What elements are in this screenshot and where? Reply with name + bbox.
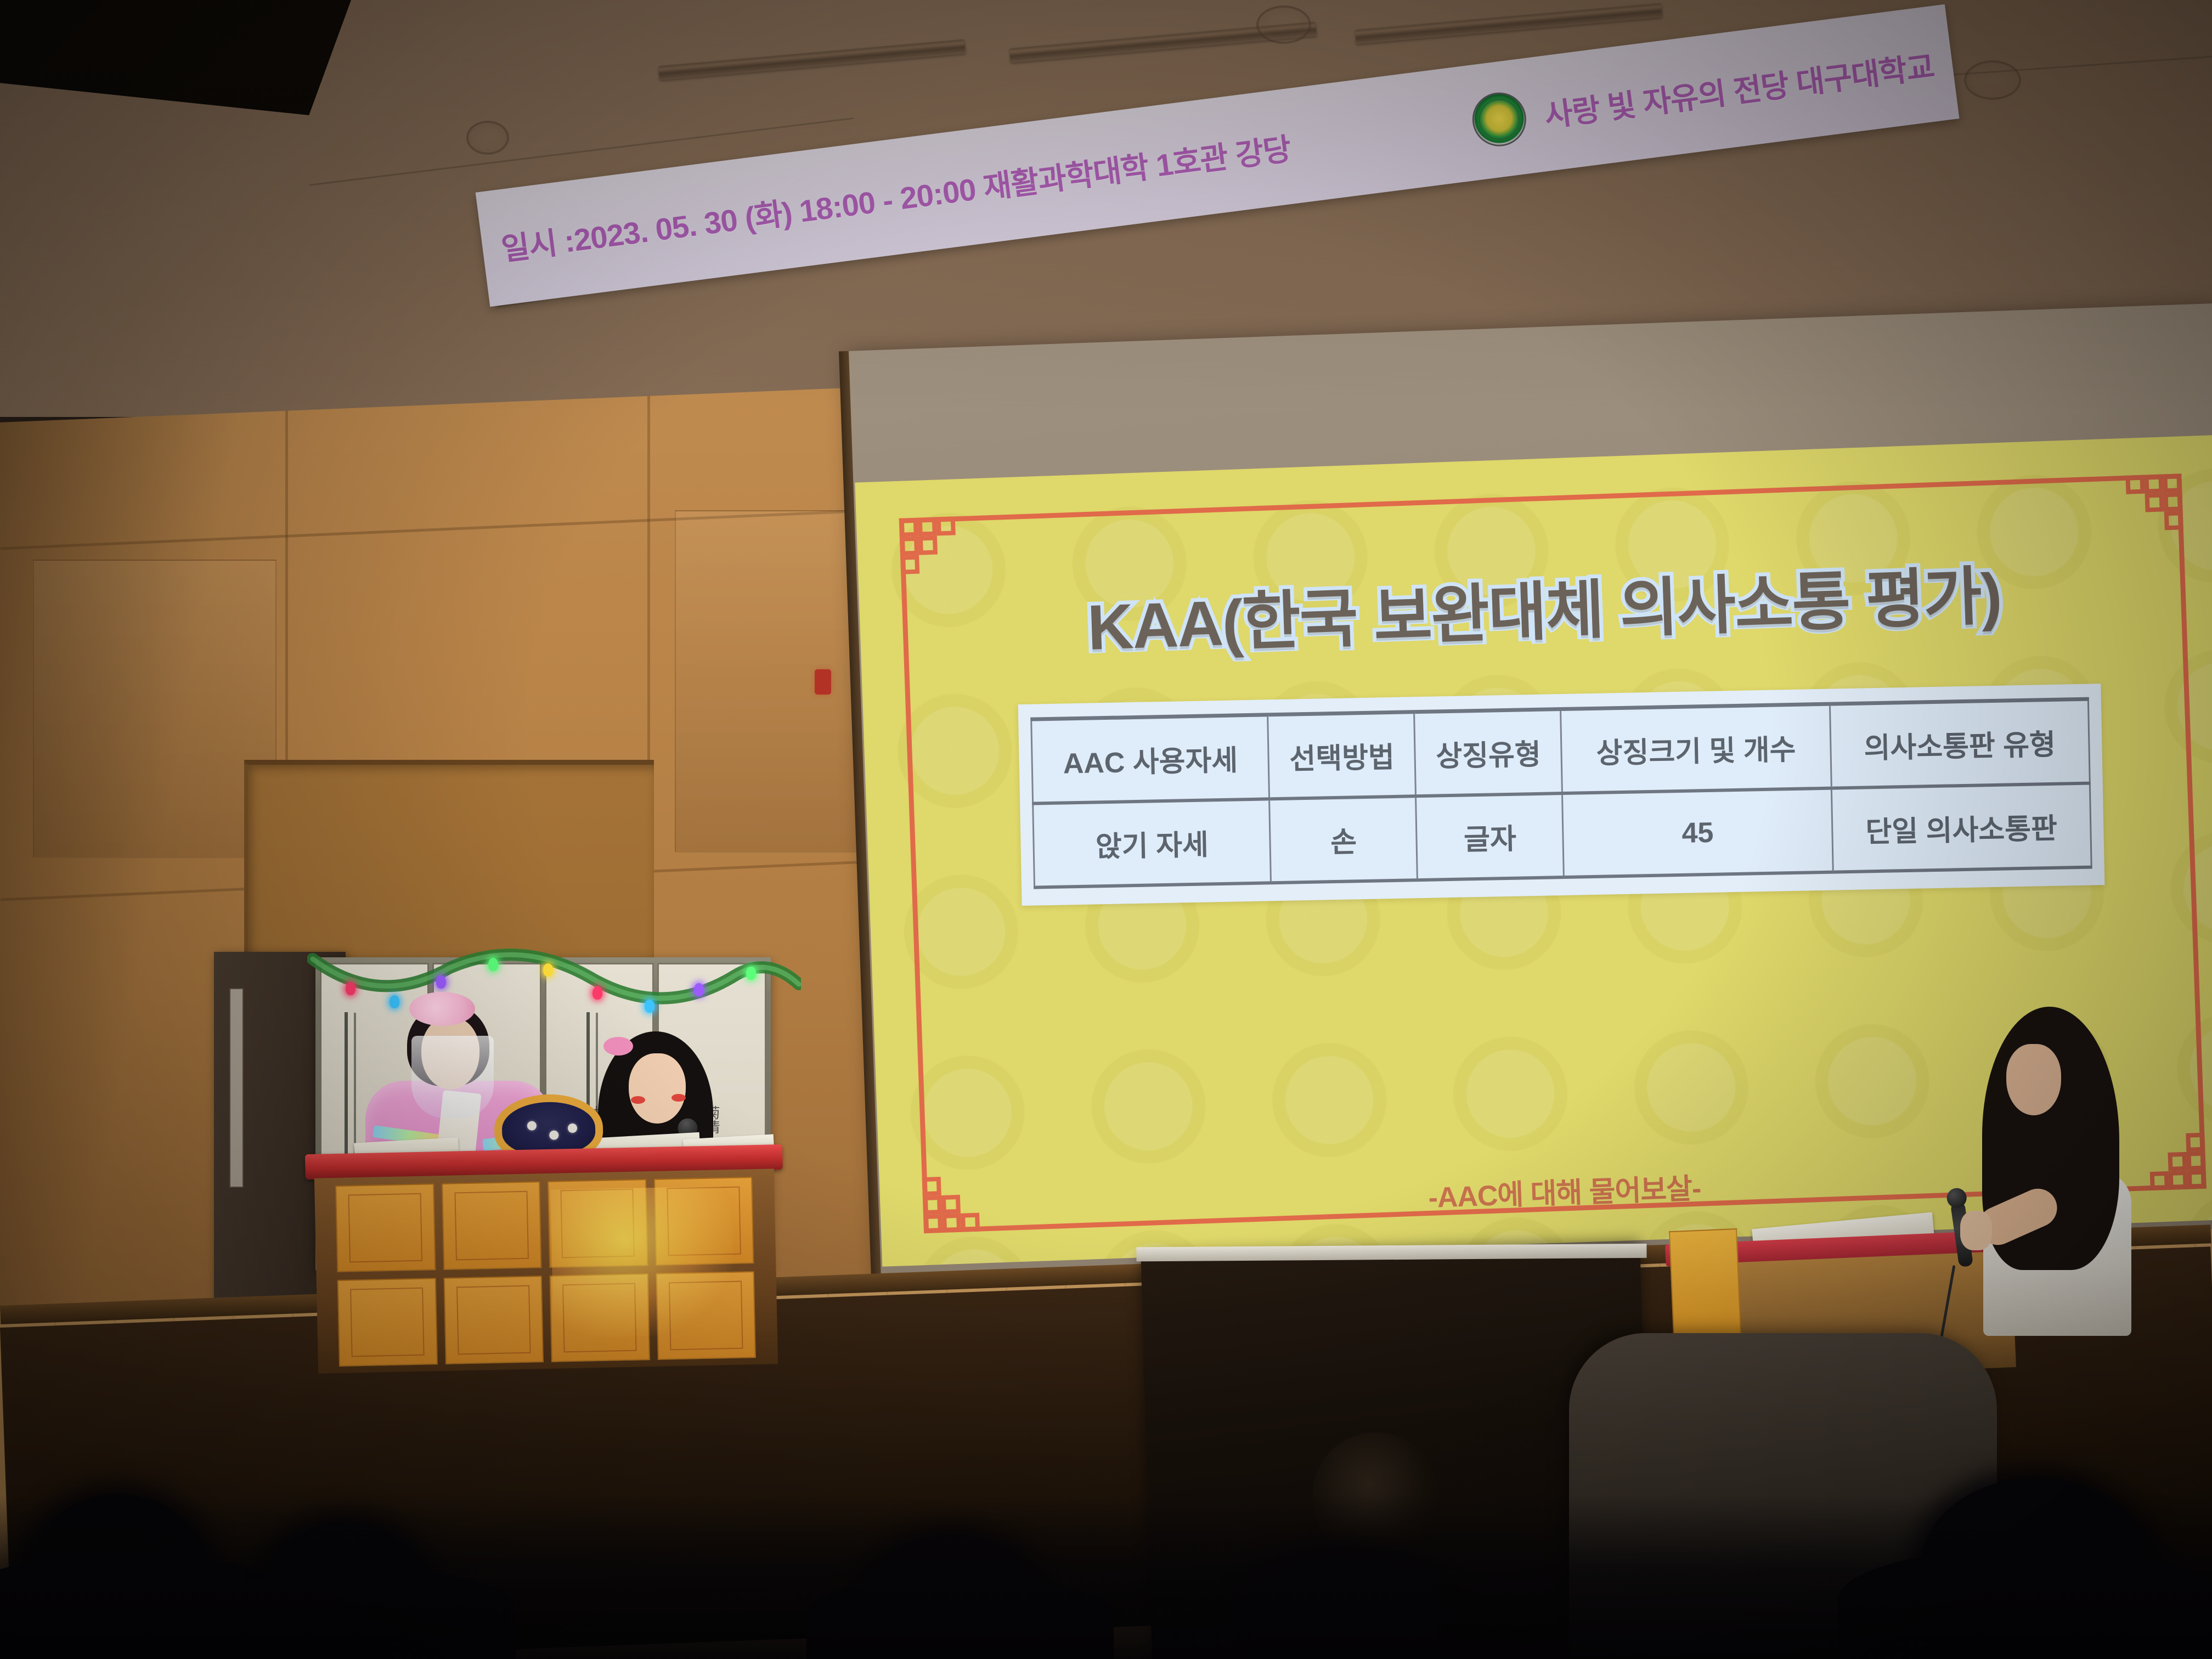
- banner-spacer: [1309, 125, 1454, 144]
- table-cell: 단일 의사소통판: [1831, 783, 2091, 872]
- bridal-veil: [411, 1036, 494, 1118]
- podium-top-surface: [1136, 1244, 1646, 1261]
- table-cell: 앉기 자세: [1033, 799, 1271, 887]
- red-cheek-makeup-icon: [672, 1094, 686, 1102]
- daegu-university-emblem-icon: [1469, 89, 1530, 150]
- table-cell: 글자: [1416, 793, 1564, 880]
- paper-talisman: [335, 1183, 436, 1272]
- table-header-cell: AAC 사용자세: [1031, 715, 1269, 804]
- foreground-shadow: [0, 1494, 2212, 1659]
- wall-panel: [33, 560, 276, 858]
- ceiling-light-fixture: [1964, 60, 2021, 100]
- red-cheek-makeup-icon: [631, 1096, 645, 1104]
- paper-talisman: [442, 1181, 542, 1270]
- presenter-white-top: [1967, 1007, 2131, 1347]
- paper-talisman: [443, 1276, 544, 1364]
- flower-headpiece-icon: [603, 1037, 633, 1056]
- table-header-cell: 선택방법: [1268, 712, 1416, 799]
- paper-talisman: [653, 1177, 754, 1266]
- talisman-grid: [335, 1177, 756, 1367]
- cushion-dot: [549, 1130, 558, 1139]
- auditorium-presentation-photo: 일시 :2023. 05. 30 (화) 18:00 - 20:00 재활과학대…: [0, 0, 2212, 1659]
- ceiling-light-fixture: [1256, 5, 1311, 44]
- banner-university-slogan: 사랑 빛 자유의 전당 대구대학교: [1542, 42, 1936, 136]
- paper-talisman: [656, 1271, 756, 1360]
- face: [2006, 1044, 2061, 1115]
- face: [629, 1053, 686, 1124]
- cabinet-label-strip: [229, 988, 244, 1188]
- flower-headpiece-icon: [409, 992, 475, 1026]
- hand: [1960, 1211, 1992, 1250]
- paper-talisman: [550, 1273, 650, 1362]
- altar-table-front: [314, 1169, 778, 1373]
- kaa-results-table: AAC 사용자세 선택방법 상징유형 상징크기 및 개수 의사소통판 유형 앉기…: [1030, 697, 2092, 889]
- fire-alarm-icon: [815, 669, 831, 695]
- ceiling-light-fixture: [466, 121, 509, 155]
- paper-talisman: [1669, 1228, 1741, 1343]
- red-draped-altar-table: [305, 1144, 787, 1374]
- cushion-dot: [568, 1124, 577, 1133]
- table-cell: 손: [1269, 796, 1418, 883]
- table-header-cell: 상징유형: [1414, 709, 1562, 797]
- paper-talisman: [337, 1278, 438, 1367]
- paper-talisman: [548, 1179, 648, 1268]
- kaa-results-table-wrap: AAC 사용자세 선택방법 상징유형 상징크기 및 개수 의사소통판 유형 앉기…: [1018, 684, 2105, 906]
- table-cell: 45: [1562, 788, 1833, 877]
- cushion-dot: [527, 1121, 537, 1130]
- table-header-cell: 상징크기 및 개수: [1561, 704, 1831, 793]
- table-header-cell: 의사소통판 유형: [1830, 699, 2090, 788]
